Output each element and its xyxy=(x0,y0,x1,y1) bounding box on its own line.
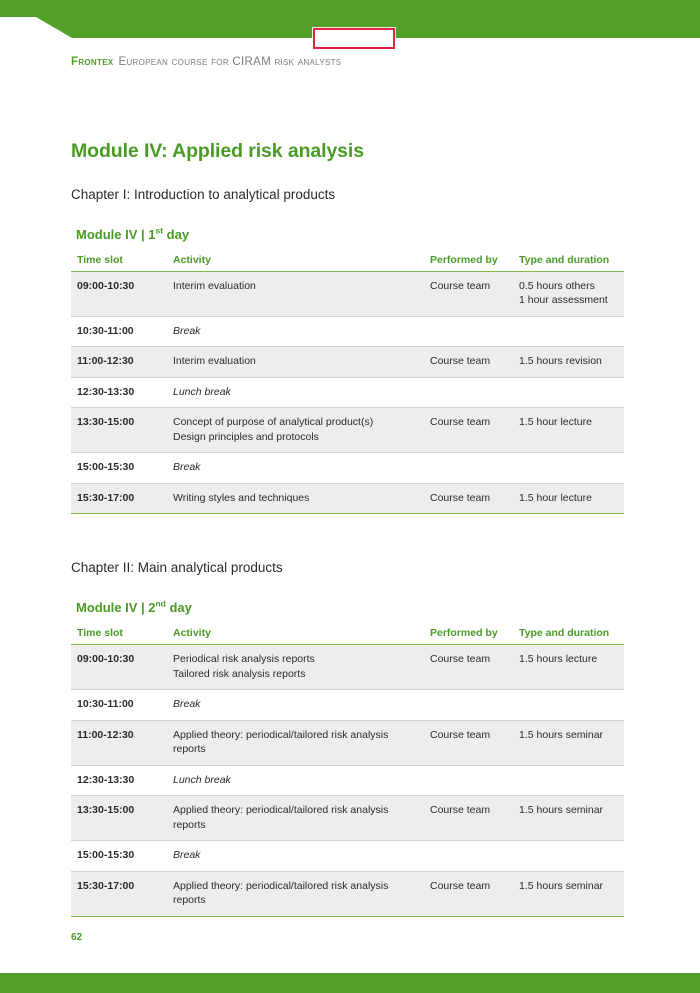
table-row: 11:00-12:30Applied theory: periodical/ta… xyxy=(71,720,624,765)
cell-time-slot: 15:00-15:30 xyxy=(71,453,173,483)
cell-type-duration xyxy=(519,316,624,346)
day-heading-tail: day xyxy=(163,227,189,242)
cell-activity: Lunch break xyxy=(173,377,430,407)
cell-performed-by xyxy=(430,765,519,795)
cell-time-slot: 09:00-10:30 xyxy=(71,645,173,690)
table-row: 13:30-15:00Concept of purpose of analyti… xyxy=(71,408,624,453)
activity-line-1: Writing styles and techniques xyxy=(173,491,420,505)
page-title: Module IV: Applied risk analysis xyxy=(71,140,611,163)
duration-line-1: 1.5 hours revision xyxy=(519,354,624,368)
sections-container: Chapter I: Introduction to analytical pr… xyxy=(71,187,611,917)
cell-type-duration xyxy=(519,377,624,407)
cell-type-duration: 1.5 hours seminar xyxy=(519,796,624,841)
duration-line-1: 1.5 hour lecture xyxy=(519,415,624,429)
column-header-performed-by: Performed by xyxy=(430,624,519,645)
page-content: Module IV: Applied risk analysis Chapter… xyxy=(71,140,611,917)
activity-line-1: Applied theory: periodical/tailored risk… xyxy=(173,803,420,832)
cell-activity: Interim evaluation xyxy=(173,272,430,317)
cell-activity: Applied theory: periodical/tailored risk… xyxy=(173,871,430,916)
cell-activity: Break xyxy=(173,841,430,871)
schedule-table: Time slotActivityPerformed byType and du… xyxy=(71,251,624,514)
duration-line-1: 1.5 hours seminar xyxy=(519,803,624,817)
column-header-time: Time slot xyxy=(71,624,173,645)
cell-type-duration xyxy=(519,690,624,720)
cell-activity: Concept of purpose of analytical product… xyxy=(173,408,430,453)
day-heading-tail: day xyxy=(166,600,192,615)
cell-activity: Periodical risk analysis reportsTailored… xyxy=(173,645,430,690)
cell-time-slot: 15:00-15:30 xyxy=(71,841,173,871)
bottom-green-bar xyxy=(0,973,700,993)
cell-time-slot: 11:00-12:30 xyxy=(71,347,173,377)
table-header-row: Time slotActivityPerformed byType and du… xyxy=(71,624,624,645)
activity-line-2: Tailored risk analysis reports xyxy=(173,667,420,681)
column-header-type-duration: Type and duration xyxy=(519,251,624,272)
cell-time-slot: 15:30-17:00 xyxy=(71,483,173,513)
cell-performed-by xyxy=(430,377,519,407)
table-row: 09:00-10:30Interim evaluationCourse team… xyxy=(71,272,624,317)
cell-time-slot: 12:30-13:30 xyxy=(71,765,173,795)
activity-line-1: Interim evaluation xyxy=(173,279,420,293)
day-heading-ordinal: nd xyxy=(155,599,165,609)
cell-performed-by: Course team xyxy=(430,645,519,690)
table-row: 11:00-12:30Interim evaluationCourse team… xyxy=(71,347,624,377)
cell-type-duration: 1.5 hours lecture xyxy=(519,645,624,690)
table-row: 12:30-13:30Lunch break xyxy=(71,765,624,795)
cell-type-duration xyxy=(519,453,624,483)
cell-type-duration: 0.5 hours others1 hour assessment xyxy=(519,272,624,317)
activity-line-1: Periodical risk analysis reports xyxy=(173,652,420,666)
cell-activity: Applied theory: periodical/tailored risk… xyxy=(173,796,430,841)
activity-line-1: Break xyxy=(173,460,420,474)
duration-line-1: 1.5 hours seminar xyxy=(519,879,624,893)
table-row: 15:00-15:30Break xyxy=(71,841,624,871)
cell-activity: Break xyxy=(173,316,430,346)
activity-line-2: Design principles and protocols xyxy=(173,430,420,444)
cell-type-duration: 1.5 hours revision xyxy=(519,347,624,377)
table-row: 13:30-15:00Applied theory: periodical/ta… xyxy=(71,796,624,841)
activity-line-1: Break xyxy=(173,848,420,862)
day-heading: Module IV | 2nd day xyxy=(76,600,611,615)
cell-performed-by: Course team xyxy=(430,347,519,377)
cell-time-slot: 10:30-11:00 xyxy=(71,316,173,346)
cell-performed-by: Course team xyxy=(430,720,519,765)
cell-performed-by: Course team xyxy=(430,408,519,453)
cell-activity: Lunch break xyxy=(173,765,430,795)
cell-activity: Break xyxy=(173,690,430,720)
schedule-table: Time slotActivityPerformed byType and du… xyxy=(71,624,624,916)
table-row: 12:30-13:30Lunch break xyxy=(71,377,624,407)
cell-time-slot: 09:00-10:30 xyxy=(71,272,173,317)
activity-line-1: Lunch break xyxy=(173,773,420,787)
cell-performed-by xyxy=(430,841,519,871)
cell-performed-by: Course team xyxy=(430,483,519,513)
red-annotation-box xyxy=(313,28,395,49)
frontex-brand-label: Frontex xyxy=(71,56,113,68)
cell-activity: Interim evaluation xyxy=(173,347,430,377)
running-header: FrontexEuropean course for CIRAM risk an… xyxy=(71,56,341,68)
activity-line-1: Lunch break xyxy=(173,385,420,399)
cell-type-duration: 1.5 hours seminar xyxy=(519,871,624,916)
cell-type-duration: 1.5 hour lecture xyxy=(519,483,624,513)
table-row: 10:30-11:00Break xyxy=(71,316,624,346)
day-heading: Module IV | 1st day xyxy=(76,227,611,242)
cell-activity: Applied theory: periodical/tailored risk… xyxy=(173,720,430,765)
table-row: 15:00-15:30Break xyxy=(71,453,624,483)
table-row: 15:30-17:00Applied theory: periodical/ta… xyxy=(71,871,624,916)
chapter-heading: Chapter II: Main analytical products xyxy=(71,560,611,575)
page-number: 62 xyxy=(71,932,82,943)
activity-line-1: Interim evaluation xyxy=(173,354,420,368)
cell-performed-by: Course team xyxy=(430,796,519,841)
duration-line-1: 0.5 hours others xyxy=(519,279,624,293)
table-row: 10:30-11:00Break xyxy=(71,690,624,720)
course-subject-label: European course for CIRAM risk analysts xyxy=(118,56,341,68)
column-header-activity: Activity xyxy=(173,624,430,645)
cell-type-duration: 1.5 hour lecture xyxy=(519,408,624,453)
cell-performed-by xyxy=(430,690,519,720)
table-row: 09:00-10:30Periodical risk analysis repo… xyxy=(71,645,624,690)
cell-time-slot: 13:30-15:00 xyxy=(71,796,173,841)
cell-performed-by: Course team xyxy=(430,272,519,317)
cell-performed-by: Course team xyxy=(430,871,519,916)
cell-time-slot: 13:30-15:00 xyxy=(71,408,173,453)
day-heading-ordinal: st xyxy=(155,226,163,236)
table-row: 15:30-17:00Writing styles and techniques… xyxy=(71,483,624,513)
cell-performed-by xyxy=(430,316,519,346)
table-header-row: Time slotActivityPerformed byType and du… xyxy=(71,251,624,272)
column-header-type-duration: Type and duration xyxy=(519,624,624,645)
duration-line-1: 1.5 hours seminar xyxy=(519,728,624,742)
cell-time-slot: 10:30-11:00 xyxy=(71,690,173,720)
column-header-time: Time slot xyxy=(71,251,173,272)
duration-line-1: 1.5 hour lecture xyxy=(519,491,624,505)
cell-type-duration: 1.5 hours seminar xyxy=(519,720,624,765)
chapter-heading: Chapter I: Introduction to analytical pr… xyxy=(71,187,611,202)
section-spacer xyxy=(71,514,611,536)
duration-line-2: 1 hour assessment xyxy=(519,293,624,307)
cell-type-duration xyxy=(519,765,624,795)
activity-line-1: Applied theory: periodical/tailored risk… xyxy=(173,728,420,757)
cell-time-slot: 15:30-17:00 xyxy=(71,871,173,916)
cell-activity: Writing styles and techniques xyxy=(173,483,430,513)
activity-line-1: Break xyxy=(173,697,420,711)
column-header-activity: Activity xyxy=(173,251,430,272)
cell-activity: Break xyxy=(173,453,430,483)
day-heading-main: Module IV | 2 xyxy=(76,600,155,615)
activity-line-1: Applied theory: periodical/tailored risk… xyxy=(173,879,420,908)
cell-time-slot: 12:30-13:30 xyxy=(71,377,173,407)
cell-performed-by xyxy=(430,453,519,483)
column-header-performed-by: Performed by xyxy=(430,251,519,272)
cell-time-slot: 11:00-12:30 xyxy=(71,720,173,765)
day-heading-main: Module IV | 1 xyxy=(76,227,155,242)
cell-type-duration xyxy=(519,841,624,871)
activity-line-1: Break xyxy=(173,324,420,338)
activity-line-1: Concept of purpose of analytical product… xyxy=(173,415,420,429)
duration-line-1: 1.5 hours lecture xyxy=(519,652,624,666)
